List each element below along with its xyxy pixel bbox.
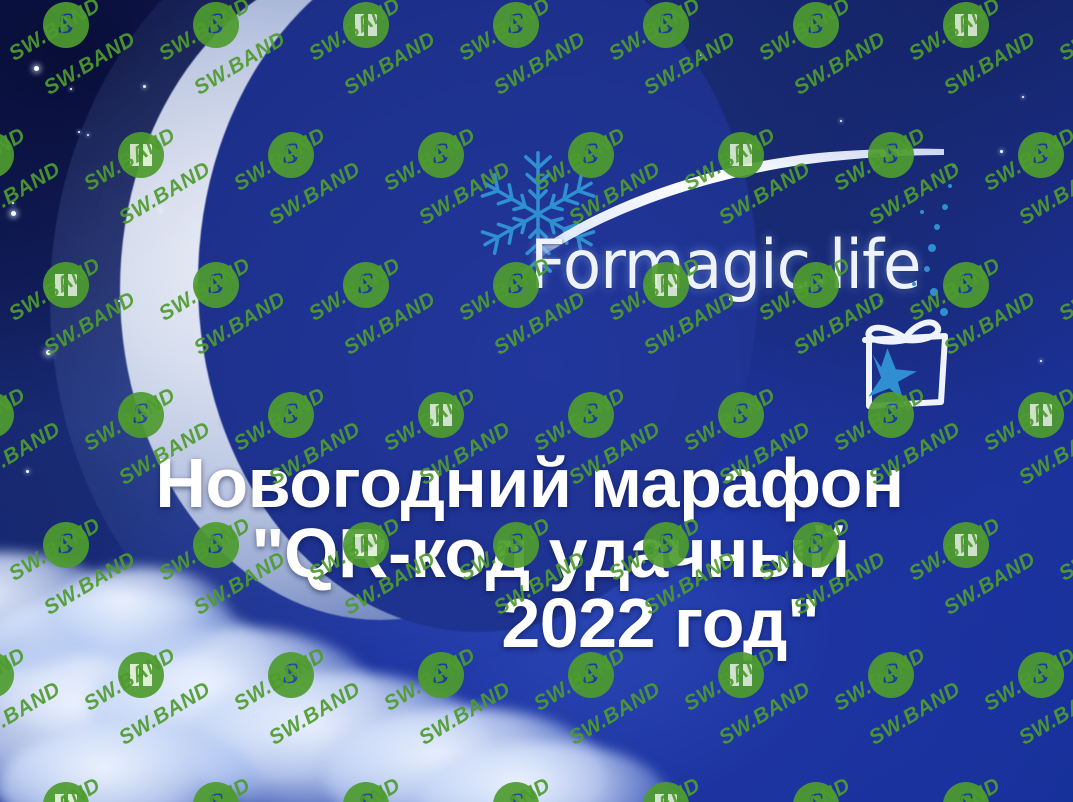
star [87,134,89,136]
logo-dot [924,266,930,272]
logo-dot [920,210,924,214]
logo-dot [928,244,936,252]
star [1040,360,1042,362]
star [840,120,842,122]
star [34,66,39,71]
star [70,88,72,90]
logo-dot [930,288,938,296]
star [46,350,51,355]
star [700,54,702,56]
brand-logo: Formagic.life [470,140,1010,430]
logo-dot [912,282,916,286]
star [12,202,14,204]
headline-line-2: "QR-код удачный [0,518,1073,588]
logo-dot [934,224,940,230]
page-title: Новогодний марафон "QR-код удачный 2022 … [0,448,1073,658]
star [11,211,16,216]
star [1022,96,1024,98]
logo-dot [960,272,964,276]
star [960,40,962,42]
promo-banner: Formagic.life Новогодний марафон "QR-код… [0,0,1073,802]
logo-dot [942,204,948,210]
logo-dot [948,184,952,188]
headline-line-1: Новогодний марафон [0,448,1073,518]
headline-line-3: 2022 год" [0,588,1073,658]
gift-box-icon [845,298,975,418]
logo-dot [952,164,956,168]
star [78,131,80,133]
